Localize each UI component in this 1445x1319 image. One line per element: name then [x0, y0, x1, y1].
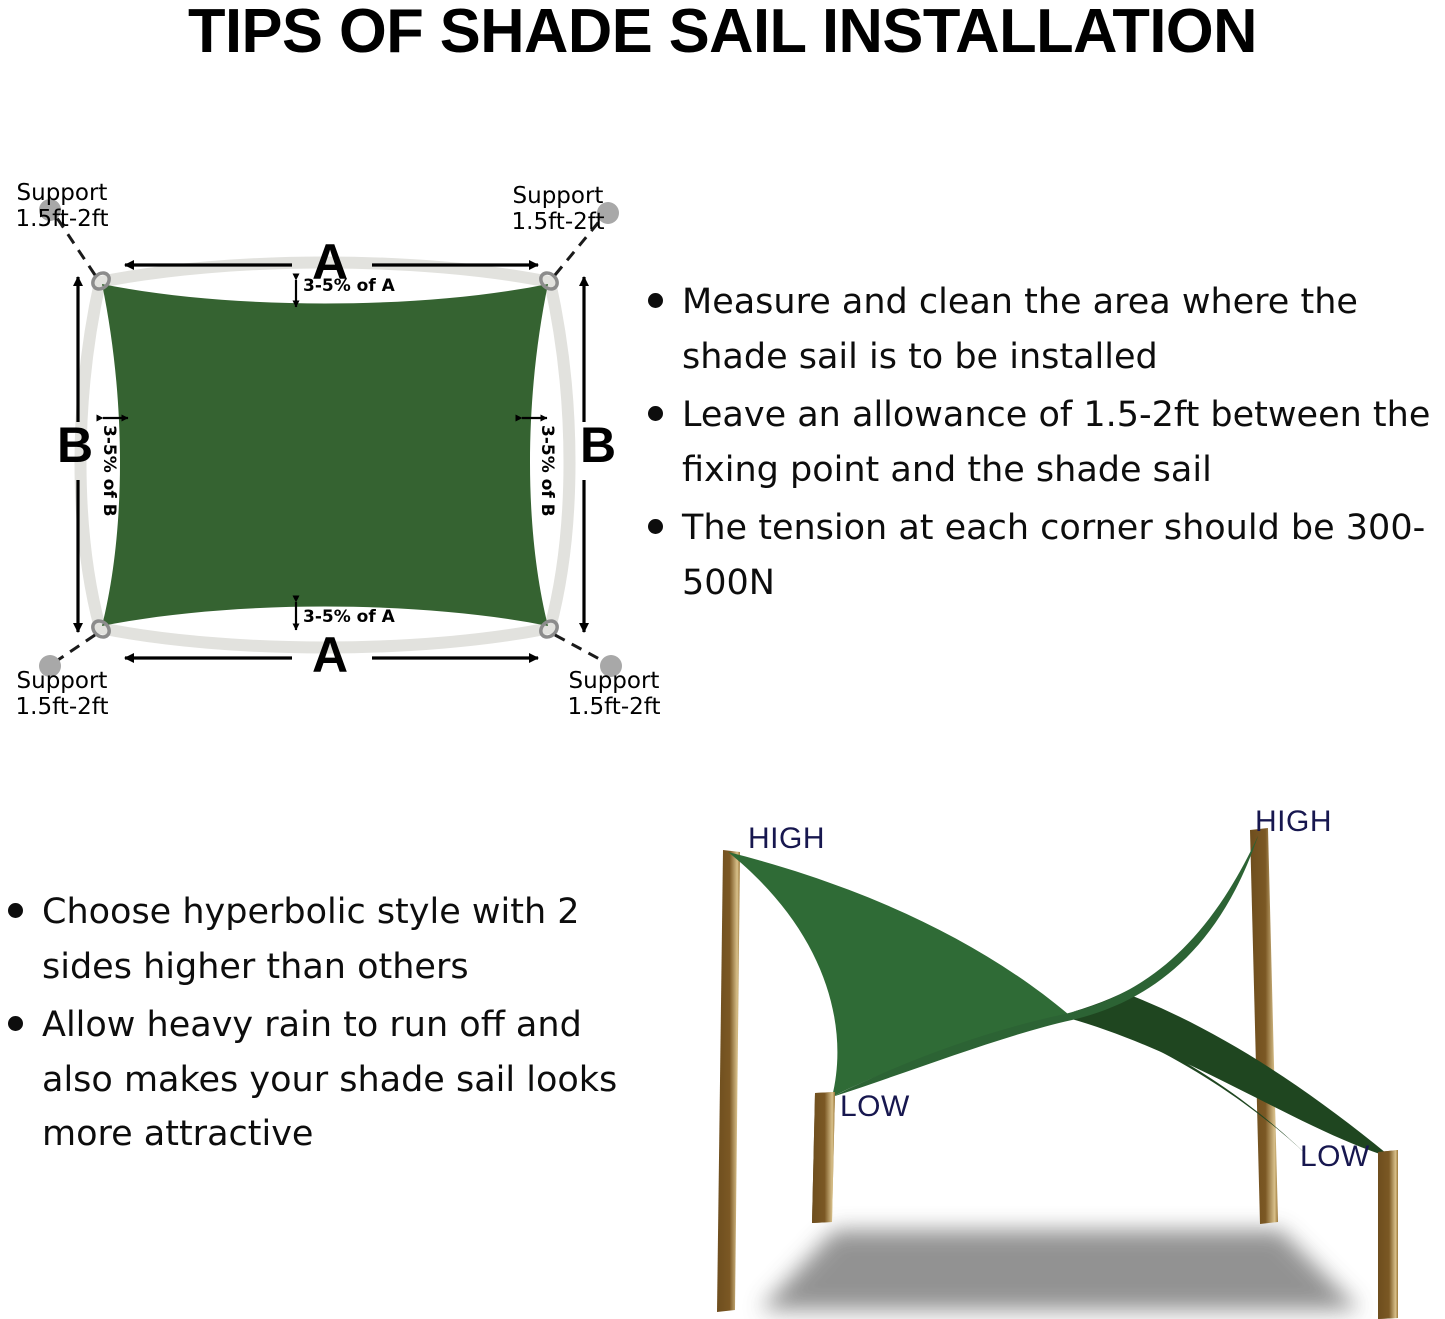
support-label-line1: Support	[558, 668, 670, 694]
infographic-page: TIPS OF SHADE SAIL INSTALLATION	[0, 0, 1445, 1319]
hyperbolic-style-tips-list: Choose hyperbolic style with 2 sides hig…	[0, 885, 630, 1166]
curve-pct-label-right: 3-5% of B	[536, 425, 556, 517]
dim-letter-b-right: B	[580, 417, 616, 475]
pole-high-left	[717, 850, 740, 1312]
installation-tips-list: Measure and clean the area where the sha…	[640, 275, 1445, 615]
support-label-line2: 1.5ft-2ft	[502, 209, 614, 235]
curve-pct-label-left: 3-5% of B	[98, 425, 118, 517]
list-item: The tension at each corner should be 300…	[640, 501, 1445, 610]
corner-label-low-left: LOW	[840, 1090, 910, 1124]
tip-text: The tension at each corner should be 300…	[682, 508, 1425, 603]
list-item: Leave an allowance of 1.5-2ft between th…	[640, 388, 1445, 497]
support-label-top-left: Support 1.5ft-2ft	[8, 180, 116, 233]
page-title: TIPS OF SHADE SAIL INSTALLATION	[7, 0, 1438, 67]
pole-high-right	[1250, 828, 1278, 1224]
support-label-line1: Support	[8, 180, 116, 206]
sail-panel-light	[728, 852, 1068, 1097]
support-label-line2: 1.5ft-2ft	[8, 694, 116, 720]
support-label-top-right: Support 1.5ft-2ft	[502, 183, 614, 236]
curve-pct-label-top: 3-5% of A	[303, 277, 395, 297]
support-label-line1: Support	[502, 183, 614, 209]
list-item: Measure and clean the area where the sha…	[640, 275, 1445, 384]
pole-low-right-front	[1378, 1150, 1398, 1319]
support-label-bottom-right: Support 1.5ft-2ft	[558, 668, 670, 721]
support-line-bottom-left	[55, 635, 95, 662]
curve-pct-label-bottom: 3-5% of A	[303, 608, 395, 628]
support-label-line1: Support	[8, 668, 116, 694]
support-label-bottom-left: Support 1.5ft-2ft	[8, 668, 116, 721]
bottom-diagram-graphic	[660, 790, 1445, 1319]
dim-letter-a-bottom: A	[312, 627, 348, 685]
corner-label-low-right: LOW	[1300, 1140, 1370, 1174]
support-label-line2: 1.5ft-2ft	[558, 694, 670, 720]
tip-text: Allow heavy rain to run off and also mak…	[42, 1005, 617, 1154]
list-item: Choose hyperbolic style with 2 sides hig…	[0, 885, 630, 994]
support-line-bottom-right	[555, 635, 605, 662]
corner-label-high-right: HIGH	[1255, 805, 1332, 839]
dim-letter-b-left: B	[57, 417, 93, 475]
ground-shadow	[760, 1230, 1360, 1310]
sail-body	[102, 284, 548, 626]
tip-text: Choose hyperbolic style with 2 sides hig…	[42, 892, 580, 987]
list-item: Allow heavy rain to run off and also mak…	[0, 998, 630, 1162]
corner-label-high-left: HIGH	[748, 822, 825, 856]
support-label-line2: 1.5ft-2ft	[8, 206, 116, 232]
pole-low-left-front	[812, 1092, 835, 1223]
tip-text: Leave an allowance of 1.5-2ft between th…	[682, 395, 1430, 490]
tip-text: Measure and clean the area where the sha…	[682, 282, 1358, 377]
